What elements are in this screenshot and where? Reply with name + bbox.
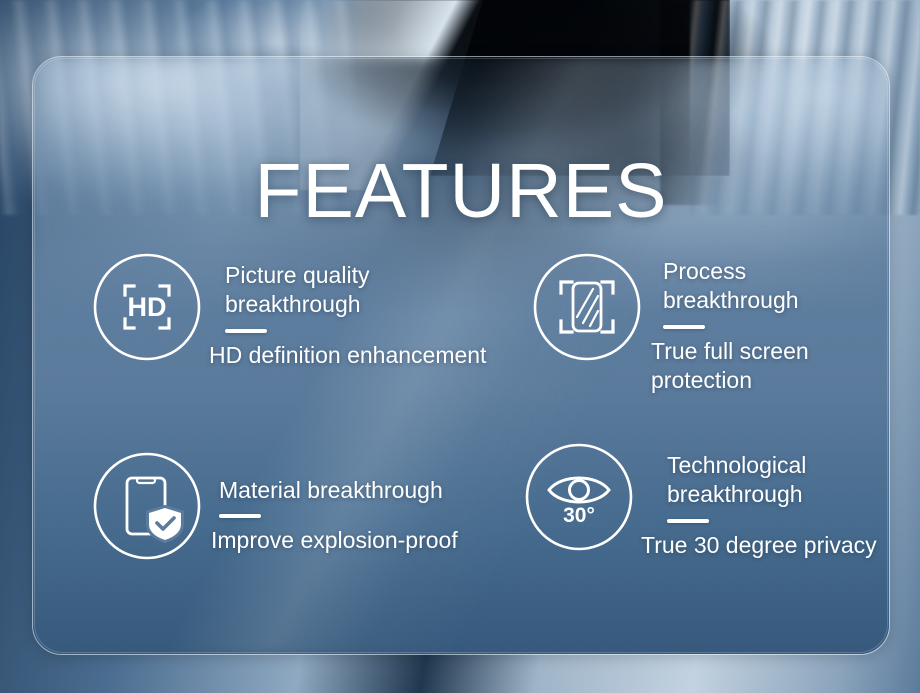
feature-heading: Picture quality breakthrough [225, 261, 486, 320]
feature-item-picture-quality: HD Picture quality breakthrough HD defin… [91, 251, 511, 370]
screen-focus-icon [531, 251, 643, 363]
feature-subtitle: HD definition enhancement [209, 341, 486, 370]
feature-text-technological: Technological breakthrough True 30 degre… [635, 441, 877, 560]
features-grid: HD Picture quality breakthrough HD defin… [33, 245, 889, 645]
feature-item-process: Process breakthrough True full screen pr… [531, 251, 890, 395]
feature-heading: Process breakthrough [663, 257, 809, 316]
feature-banner: FEATURES HD P [0, 0, 920, 693]
feature-subtitle: True full screen protection [651, 337, 809, 395]
feature-text-material: Material breakthrough Improve explosion-… [203, 450, 458, 555]
eye-icon-label: 30° [563, 504, 595, 527]
feature-divider [225, 329, 267, 333]
page-title: FEATURES [33, 153, 889, 230]
feature-item-technological: 30° Technological breakthrough True 30 d… [523, 441, 890, 560]
feature-divider [219, 514, 261, 518]
feature-heading: Material breakthrough [219, 476, 458, 505]
feature-divider [667, 519, 709, 523]
card-content: FEATURES HD P [33, 57, 889, 654]
feature-subtitle: Improve explosion-proof [211, 526, 458, 555]
phone-shield-icon [91, 450, 203, 562]
feature-text-picture-quality: Picture quality breakthrough HD definiti… [203, 251, 486, 370]
feature-item-material: Material breakthrough Improve explosion-… [91, 450, 521, 562]
hd-icon-label: HD [128, 292, 167, 322]
hd-focus-icon: HD [91, 251, 203, 363]
feature-subtitle: True 30 degree privacy [641, 531, 877, 560]
feature-card: FEATURES HD P [32, 56, 890, 655]
feature-divider [663, 325, 705, 329]
feature-heading: Technological breakthrough [667, 451, 877, 510]
eye-privacy-icon: 30° [523, 441, 635, 553]
feature-text-process: Process breakthrough True full screen pr… [643, 251, 809, 395]
